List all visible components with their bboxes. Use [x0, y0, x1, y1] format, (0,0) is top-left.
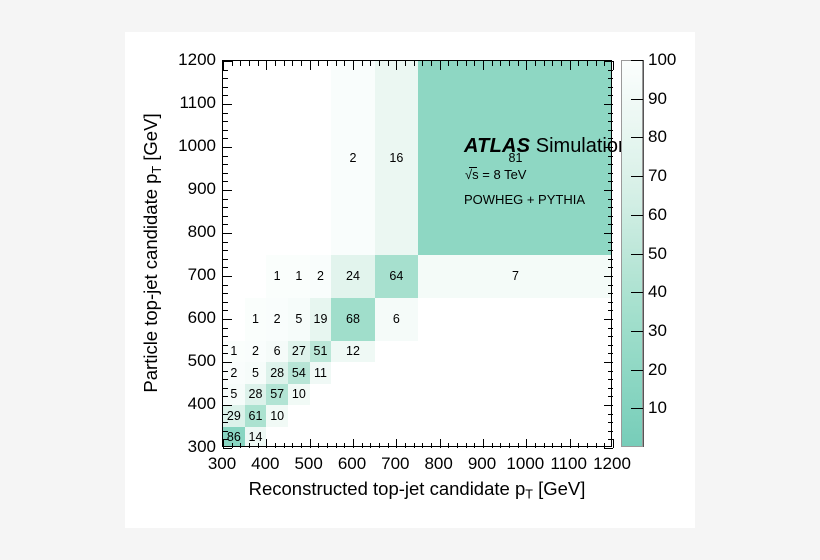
axis-tick — [266, 439, 267, 448]
heatmap-cell-value: 2 — [317, 270, 324, 283]
axis-tick — [561, 443, 562, 448]
axis-tick — [570, 439, 571, 448]
axis-tick — [223, 328, 228, 329]
axis-tick — [570, 61, 571, 70]
axis-tick — [604, 405, 613, 406]
axis-tick — [608, 414, 613, 415]
y-tick-label: 700 — [164, 265, 216, 285]
heatmap-cell-value: 86 — [227, 431, 241, 444]
axis-tick — [223, 319, 232, 320]
axis-tick — [223, 70, 228, 71]
axis-tick — [608, 113, 613, 114]
colorbar-tick-label: 50 — [648, 244, 667, 264]
axis-tick — [223, 199, 228, 200]
axis-tick — [587, 443, 588, 448]
heatmap-cell-value: 12 — [346, 345, 360, 358]
y-axis-title-post: [GeV] — [140, 113, 161, 165]
heatmap-plot-area: 8614296110528571025285411126275112125196… — [222, 60, 612, 447]
axis-tick — [405, 61, 406, 66]
axis-tick — [292, 61, 293, 66]
axis-tick — [492, 61, 493, 66]
axis-tick — [223, 207, 228, 208]
axis-tick — [466, 443, 467, 448]
atlas-label: ATLAS Simulation — [464, 135, 629, 158]
axis-tick — [440, 439, 441, 448]
axis-tick — [223, 267, 228, 268]
axis-tick — [578, 443, 579, 448]
axis-tick — [223, 87, 228, 88]
y-axis-title: Particle top-jet candidate pT [GeV] — [140, 113, 164, 392]
colorbar-tick-label: 40 — [648, 282, 667, 302]
axis-tick — [474, 443, 475, 448]
axis-tick — [223, 285, 228, 286]
x-tick-label: 500 — [294, 454, 322, 474]
x-axis-title: Reconstructed top-jet candidate pT [GeV] — [249, 478, 586, 502]
axis-tick — [223, 250, 228, 251]
x-axis-title-pre: Reconstructed top-jet candidate p — [249, 478, 526, 499]
axis-tick — [223, 259, 228, 260]
heatmap-cell-value: 51 — [314, 345, 328, 358]
heatmap-cell-value: 24 — [346, 270, 360, 283]
heatmap-cell-value: 61 — [249, 410, 263, 423]
axis-tick — [608, 396, 613, 397]
axis-tick — [457, 61, 458, 66]
y-axis-title-sub: T — [150, 166, 164, 174]
axis-tick — [500, 61, 501, 66]
axis-tick — [223, 336, 228, 337]
heatmap-cell-value: 19 — [314, 313, 328, 326]
axis-tick — [284, 61, 285, 66]
sqrt-s-text: s = 8 TeV — [472, 167, 526, 182]
heatmap-cell-value: 57 — [270, 388, 284, 401]
axis-tick — [249, 61, 250, 66]
x-tick-label: 300 — [208, 454, 236, 474]
axis-tick — [240, 61, 241, 66]
axis-tick — [561, 61, 562, 66]
axis-tick — [327, 443, 328, 448]
axis-tick — [275, 443, 276, 448]
axis-tick — [396, 439, 397, 448]
axis-tick — [518, 61, 519, 66]
axis-tick — [596, 443, 597, 448]
y-tick-label: 900 — [164, 179, 216, 199]
axis-tick — [604, 319, 613, 320]
axis-tick — [336, 61, 337, 66]
colorbar-tick — [631, 254, 643, 255]
axis-tick — [613, 61, 614, 70]
heatmap-cell-value: 64 — [389, 270, 403, 283]
axis-tick — [240, 443, 241, 448]
axis-tick — [492, 443, 493, 448]
axis-tick — [223, 388, 228, 389]
axis-tick — [509, 443, 510, 448]
axis-tick — [483, 439, 484, 448]
colorbar-tick-label: 70 — [648, 166, 667, 186]
axis-tick — [223, 61, 232, 62]
axis-tick — [608, 130, 613, 131]
heatmap-cell-value: 2 — [252, 345, 259, 358]
axis-tick — [223, 242, 228, 243]
axis-tick — [422, 61, 423, 66]
axis-tick — [344, 61, 345, 66]
plot-legend: ATLAS Simulation √s = 8 TeV POWHEG + PYT… — [464, 135, 629, 207]
colorbar-tick-label: 80 — [648, 127, 667, 147]
colorbar-tick — [631, 137, 643, 138]
axis-tick — [223, 345, 228, 346]
heatmap-cell-value: 14 — [249, 431, 263, 444]
y-tick-label: 1000 — [164, 136, 216, 156]
colorbar-tick — [631, 292, 643, 293]
axis-tick — [608, 422, 613, 423]
axis-tick — [223, 156, 228, 157]
y-axis-title-pre: Particle top-jet candidate p — [140, 174, 161, 393]
heatmap-cell-value: 11 — [314, 367, 327, 380]
axis-tick — [448, 443, 449, 448]
axis-tick — [608, 216, 613, 217]
axis-tick — [223, 216, 228, 217]
heatmap-cell-value: 1 — [230, 345, 237, 358]
axis-tick — [608, 121, 613, 122]
colorbar-tick — [631, 370, 643, 371]
axis-tick — [608, 242, 613, 243]
axis-tick — [500, 443, 501, 448]
axis-tick — [604, 276, 613, 277]
axis-tick — [258, 61, 259, 66]
axis-tick — [474, 61, 475, 66]
axis-tick — [301, 443, 302, 448]
axis-tick — [604, 448, 613, 449]
axis-tick — [587, 61, 588, 66]
axis-tick — [608, 353, 613, 354]
heatmap-cell-value: 5 — [252, 367, 259, 380]
axis-tick — [604, 362, 613, 363]
heatmap-cell-value: 6 — [274, 345, 281, 358]
y-tick-label: 400 — [164, 394, 216, 414]
axis-tick — [608, 267, 613, 268]
axis-tick — [466, 61, 467, 66]
heatmap-cell-value: 29 — [227, 410, 241, 423]
x-tick-label: 1100 — [550, 454, 587, 474]
axis-tick — [223, 130, 228, 131]
colorbar-tick-label: 60 — [648, 205, 667, 225]
axis-tick — [608, 259, 613, 260]
x-tick-label: 700 — [381, 454, 409, 474]
axis-tick — [223, 362, 232, 363]
axis-tick — [608, 285, 613, 286]
axis-tick — [483, 61, 484, 70]
y-tick-label: 600 — [164, 308, 216, 328]
colorbar-axis — [643, 60, 644, 447]
axis-tick — [223, 181, 228, 182]
heatmap-cell-value: 1 — [295, 270, 302, 283]
axis-tick — [284, 443, 285, 448]
heatmap-cell-value: 1 — [252, 313, 259, 326]
x-tick-label: 400 — [251, 454, 279, 474]
axis-tick — [223, 302, 228, 303]
axis-tick — [223, 310, 228, 311]
simulation-text: Simulation — [530, 135, 629, 157]
x-tick-label: 900 — [468, 454, 496, 474]
heatmap-cell-value: 2 — [274, 313, 281, 326]
axis-tick — [223, 104, 232, 105]
axis-tick — [608, 328, 613, 329]
axis-tick — [608, 224, 613, 225]
axis-tick — [608, 293, 613, 294]
axis-tick — [223, 233, 232, 234]
axis-tick — [608, 371, 613, 372]
figure-canvas: Particle top-jet candidate pT [GeV] Reco… — [0, 0, 820, 560]
axis-tick — [518, 443, 519, 448]
axis-tick — [353, 61, 354, 70]
axis-tick — [596, 61, 597, 66]
axis-tick — [310, 61, 311, 70]
axis-tick — [414, 443, 415, 448]
axis-tick — [327, 61, 328, 66]
colorbar-tick — [631, 408, 643, 409]
axis-tick — [431, 61, 432, 66]
axis-tick — [362, 61, 363, 66]
generator-label: POWHEG + PYTHIA — [464, 192, 629, 207]
axis-tick — [544, 443, 545, 448]
axis-tick — [223, 147, 232, 148]
heatmap-cell-value: 10 — [292, 388, 306, 401]
axis-tick — [370, 443, 371, 448]
axis-tick — [301, 61, 302, 66]
x-axis-title-post: [GeV] — [533, 478, 585, 499]
axis-tick — [318, 443, 319, 448]
axis-tick — [440, 61, 441, 70]
axis-tick — [223, 276, 232, 277]
sqrt-icon: √ — [464, 167, 472, 182]
axis-tick — [223, 422, 228, 423]
axis-tick — [608, 310, 613, 311]
axis-tick — [249, 443, 250, 448]
axis-tick — [388, 443, 389, 448]
colorbar-tick — [631, 331, 643, 332]
axis-tick — [223, 224, 228, 225]
axis-tick — [223, 371, 228, 372]
axis-tick — [275, 61, 276, 66]
colorbar-tick-label: 10 — [648, 398, 667, 418]
axis-tick — [509, 61, 510, 66]
axis-tick — [223, 138, 228, 139]
y-tick-label: 300 — [164, 437, 216, 457]
axis-tick — [422, 443, 423, 448]
axis-tick — [405, 443, 406, 448]
axis-tick — [608, 336, 613, 337]
axis-tick — [388, 61, 389, 66]
axis-tick — [396, 61, 397, 70]
axis-tick — [448, 61, 449, 66]
axis-tick — [223, 396, 228, 397]
axis-tick — [608, 70, 613, 71]
x-tick-label: 600 — [338, 454, 366, 474]
axis-tick — [604, 61, 613, 62]
heatmap-cell-value: 2 — [230, 367, 237, 380]
axis-tick — [223, 405, 232, 406]
axis-tick — [379, 443, 380, 448]
axis-tick — [608, 431, 613, 432]
sqrt-s-label: √s = 8 TeV — [464, 167, 629, 182]
colorbar-tick — [631, 60, 643, 61]
axis-tick — [310, 439, 311, 448]
axis-tick — [535, 61, 536, 66]
atlas-text: ATLAS — [464, 135, 530, 157]
axis-tick — [526, 439, 527, 448]
axis-tick — [414, 61, 415, 66]
heatmap-cell-value: 5 — [295, 313, 302, 326]
x-tick-label: 1200 — [593, 454, 631, 474]
axis-tick — [223, 173, 228, 174]
axis-tick — [344, 443, 345, 448]
axis-tick — [526, 61, 527, 70]
axis-tick — [604, 233, 613, 234]
heatmap-cell-value: 54 — [292, 367, 306, 380]
axis-tick — [608, 250, 613, 251]
axis-tick — [223, 113, 228, 114]
axis-tick — [292, 443, 293, 448]
axis-tick — [223, 293, 228, 294]
heatmap-cell-value: 28 — [249, 388, 263, 401]
axis-tick — [578, 61, 579, 66]
heatmap-cell-value: 27 — [292, 345, 306, 358]
axis-tick — [608, 345, 613, 346]
y-tick-label: 500 — [164, 351, 216, 371]
axis-tick — [613, 439, 614, 448]
axis-tick — [258, 443, 259, 448]
axis-tick — [223, 431, 228, 432]
heatmap-cell-value: 6 — [393, 313, 400, 326]
axis-tick — [544, 61, 545, 66]
axis-tick — [608, 87, 613, 88]
axis-tick — [223, 414, 228, 415]
axis-tick — [223, 78, 228, 79]
colorbar-tick-label: 20 — [648, 360, 667, 380]
axis-tick — [431, 443, 432, 448]
heatmap-cell-value: 28 — [270, 367, 284, 380]
colorbar-tick-label: 30 — [648, 321, 667, 341]
colorbar-tick — [631, 215, 643, 216]
heatmap-cell-value: 16 — [389, 152, 403, 165]
axis-tick — [457, 443, 458, 448]
axis-tick — [379, 61, 380, 66]
axis-tick — [608, 95, 613, 96]
axis-tick — [608, 302, 613, 303]
axis-tick — [223, 95, 228, 96]
axis-tick — [223, 190, 232, 191]
heatmap-cell-value: 68 — [346, 313, 360, 326]
axis-tick — [608, 379, 613, 380]
axis-tick — [552, 443, 553, 448]
axis-tick — [535, 443, 536, 448]
heatmap-cell-value: 1 — [274, 270, 281, 283]
axis-tick — [223, 448, 232, 449]
axis-tick — [223, 121, 228, 122]
heatmap-cells: 8614296110528571025285411126275112125196… — [223, 61, 611, 446]
axis-tick — [608, 439, 613, 440]
axis-tick — [353, 439, 354, 448]
axis-tick — [370, 61, 371, 66]
heatmap-cell-value: 5 — [230, 388, 237, 401]
axis-tick — [608, 388, 613, 389]
x-tick-label: 800 — [424, 454, 452, 474]
axis-tick — [552, 61, 553, 66]
colorbar-tick-label: 100 — [648, 50, 676, 70]
y-tick-label: 1200 — [164, 50, 216, 70]
y-tick-label: 1100 — [164, 93, 216, 113]
heatmap-cell-value: 2 — [350, 152, 357, 165]
axis-tick — [604, 104, 613, 105]
colorbar-tick — [631, 99, 643, 100]
axis-tick — [362, 443, 363, 448]
colorbar-tick — [631, 176, 643, 177]
x-tick-label: 1000 — [506, 454, 544, 474]
axis-tick — [318, 61, 319, 66]
colorbar-tick-label: 90 — [648, 89, 667, 109]
heatmap-cell-value: 7 — [512, 270, 519, 283]
y-tick-label: 800 — [164, 222, 216, 242]
axis-tick — [223, 353, 228, 354]
axis-tick — [223, 439, 228, 440]
axis-tick — [223, 164, 228, 165]
heatmap-cell-value: 10 — [270, 410, 284, 423]
axis-tick — [608, 207, 613, 208]
axis-tick — [266, 61, 267, 70]
axis-tick — [336, 443, 337, 448]
axis-tick — [608, 78, 613, 79]
axis-tick — [223, 379, 228, 380]
